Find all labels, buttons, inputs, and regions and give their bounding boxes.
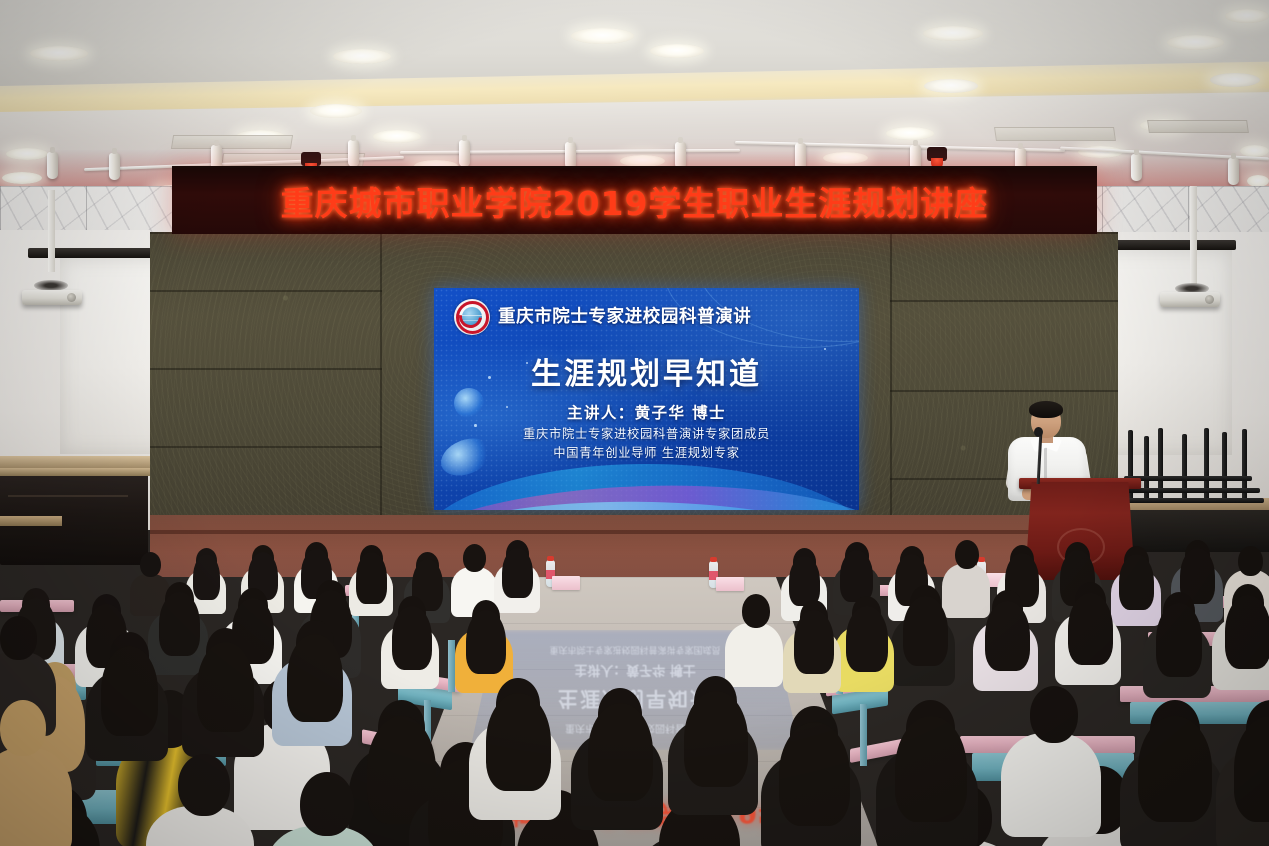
speaker-hair: [1029, 401, 1063, 418]
chair-crossbar: [1124, 476, 1252, 481]
track-spotlight: [565, 142, 576, 169]
led-banner-text: 重庆城市职业学院2019学生职业生涯规划讲座: [172, 177, 1097, 225]
ceiling-air-vent: [171, 135, 293, 149]
downlight: [333, 49, 391, 64]
side-counter-left: [0, 456, 150, 468]
slide-header-text: 重庆市院士专家进校园科普演讲: [498, 303, 843, 328]
person-head: [0, 616, 37, 660]
person-hair: [1234, 716, 1269, 822]
slide-credential-2: 中国青年创业导师 生涯规划专家: [434, 443, 859, 461]
projector-left: [22, 290, 82, 305]
downlight: [823, 152, 868, 164]
downlight: [30, 46, 88, 61]
person-hair: [684, 691, 748, 787]
person-head: [300, 772, 354, 836]
person-hair: [588, 703, 653, 801]
piano-lid: [0, 468, 152, 476]
person-hair: [1225, 595, 1269, 669]
downlight: [1167, 35, 1224, 50]
person-hair: [466, 610, 506, 674]
person-head: [1030, 686, 1078, 743]
granite-seam: [890, 232, 892, 532]
piano-bench: [0, 516, 62, 526]
person-hair: [903, 596, 948, 666]
person-hair: [159, 592, 200, 656]
track-spotlight: [675, 142, 686, 169]
granite-seam: [150, 446, 382, 448]
desk-leg: [448, 640, 455, 692]
person-head: [1238, 546, 1263, 576]
track-spotlight: [348, 140, 359, 167]
granite-seam: [890, 390, 1118, 392]
bottle-cap: [547, 556, 554, 561]
downlight: [2, 172, 42, 184]
person-hair: [779, 722, 850, 826]
person-hair: [1156, 603, 1202, 677]
bottle-cap: [710, 557, 717, 562]
person-hair: [1119, 554, 1154, 610]
downlight: [923, 26, 983, 41]
chair-crossbar: [1122, 498, 1264, 503]
person-hair: [197, 642, 254, 732]
person-head: [140, 552, 161, 577]
person-hair: [193, 554, 220, 600]
desk-leg: [860, 704, 867, 766]
smoke-detector: [927, 147, 947, 161]
stage-edge: [150, 530, 1118, 534]
person-head: [955, 540, 979, 569]
downlight: [924, 79, 978, 93]
person-hair: [840, 550, 873, 602]
person-hair: [287, 634, 343, 722]
granite-seam: [150, 368, 382, 370]
stacked-chairs: [1122, 428, 1269, 510]
person-hair: [392, 606, 432, 670]
projector-pole-right: [1190, 186, 1197, 284]
track-spotlight: [459, 140, 470, 167]
bottle-cap: [978, 557, 985, 562]
downlight: [571, 28, 634, 44]
projector-pole-left: [48, 190, 55, 272]
projector-right: [1160, 292, 1220, 307]
person-hair: [486, 693, 551, 791]
person-head: [178, 754, 230, 816]
smoke-detector: [301, 152, 321, 166]
led-banner: 重庆城市职业学院2019学生职业生涯规划讲座: [172, 166, 1097, 234]
slide-presenter-text: 主讲人：黄子华 博士: [434, 401, 859, 423]
piano-panel-seam: [8, 495, 128, 497]
person-hair: [502, 548, 533, 598]
person-torso: [0, 748, 72, 846]
downlight: [6, 148, 48, 160]
slide-credential-1: 重庆市院士专家进校园科普演讲专家团成员: [434, 424, 859, 442]
granite-seam: [890, 300, 1118, 302]
track-spotlight: [1131, 154, 1142, 181]
track-spotlight: [109, 153, 120, 180]
ceiling-air-vent: [994, 127, 1116, 141]
downlight: [1225, 9, 1269, 23]
person-hair: [356, 552, 387, 604]
person-hair: [846, 606, 888, 672]
person-head: [0, 700, 46, 756]
downlight: [886, 127, 934, 140]
person-head: [463, 544, 486, 572]
person-hair: [101, 646, 158, 736]
downlight: [373, 130, 421, 143]
granite-seam: [380, 232, 382, 532]
person-hair: [794, 610, 834, 674]
downlight: [650, 44, 704, 58]
slide-title-text: 生涯规划早知道: [434, 349, 859, 393]
chair-crossbar: [1124, 488, 1260, 493]
slide-logo: [454, 299, 490, 335]
downlight: [310, 104, 362, 118]
person-hair: [895, 716, 967, 822]
track-spotlight: [47, 152, 58, 179]
person-head: [742, 594, 770, 628]
microphone-head: [1034, 427, 1043, 437]
desk-name-card: [716, 577, 744, 591]
person-hair: [789, 556, 820, 606]
presentation-slide: 重庆市院士专家进校园科普演讲 生涯规划早知道 主讲人：黄子华 博士 重庆市院士专…: [434, 288, 859, 510]
person-torso: [1001, 733, 1101, 837]
person-hair: [985, 601, 1030, 671]
person-hair: [1068, 593, 1113, 665]
track-spotlight: [1228, 158, 1239, 185]
person-torso: [725, 623, 783, 687]
desk-name-card: [552, 576, 580, 590]
downlight: [1210, 73, 1260, 87]
person-hair: [1138, 716, 1212, 822]
lecture-hall-photo: 重庆城市职业学院2019学生职业生涯规划讲座 重庆市院士专家进校园科普演讲 生涯…: [0, 0, 1269, 846]
ceiling-air-vent: [1147, 120, 1249, 133]
person-torso: [942, 564, 990, 618]
granite-seam: [150, 290, 382, 292]
